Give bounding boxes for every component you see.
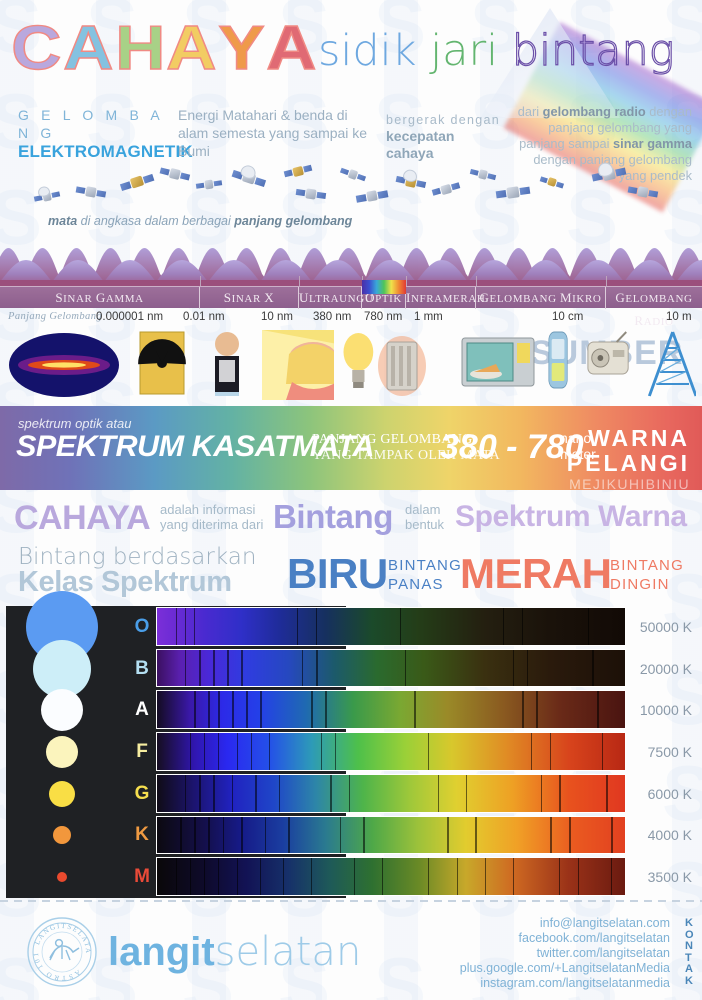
- absorption-line: [349, 775, 350, 812]
- satellite-icon: [230, 165, 267, 191]
- xray-child-icon: [203, 330, 251, 400]
- absorption-line: [218, 858, 219, 895]
- satellite-body: [507, 186, 520, 199]
- satellite-solar-panel: [378, 190, 389, 198]
- absorption-line: [302, 650, 303, 687]
- kontak-letter: K: [685, 918, 694, 930]
- absorption-line: [400, 608, 401, 645]
- spectrum-strip-M[interactable]: [156, 857, 626, 896]
- absorption-line: [213, 775, 214, 812]
- satellite-icon: [539, 173, 566, 192]
- banner-pelangi: PELANGI: [567, 451, 690, 476]
- absorption-line: [513, 858, 514, 895]
- satellite-solar-panel: [432, 188, 442, 196]
- wavelength-value: 1 mm: [414, 310, 443, 324]
- star-glyph-G: [49, 781, 75, 807]
- absorption-line: [513, 650, 514, 687]
- absorption-line: [536, 691, 538, 728]
- absorption-line: [208, 817, 210, 854]
- mid-adalah-l1: adalah informasi: [160, 502, 263, 517]
- seal-svg: LANGITSELATAN ASTRO 101: [26, 916, 98, 988]
- wavelength-value: 780 nm: [364, 310, 402, 324]
- absorption-line: [340, 817, 342, 854]
- absorption-line: [199, 650, 200, 687]
- brand-selatan: selatan: [215, 929, 362, 975]
- intro-bergerak-label: bergerak dengan: [386, 112, 501, 128]
- kontak-vertical-label: KONTAK: [685, 918, 694, 987]
- absorption-line: [180, 817, 182, 854]
- absorption-line: [269, 733, 270, 770]
- satellite-solar-panel: [180, 172, 190, 180]
- satellite-solar-panel: [519, 187, 530, 195]
- spectrum-strip-F[interactable]: [156, 732, 626, 771]
- mid-biru-sub1: BINTANG: [388, 556, 462, 575]
- absorption-line: [503, 608, 504, 645]
- absorption-line: [316, 650, 317, 687]
- satellite-icon: [495, 182, 531, 204]
- intro-col-speed: bergerak dengan kecepatan cahaya: [386, 112, 501, 162]
- satellite-body: [85, 186, 97, 198]
- satellite-solar-panel: [470, 169, 479, 176]
- satellite-icon: [395, 171, 427, 192]
- subtitle-word: jari: [430, 30, 498, 73]
- title-letter: A: [63, 18, 115, 80]
- absorption-line: [466, 775, 467, 812]
- optical-color-strip: [362, 280, 406, 294]
- spectral-class-chart: OBAFGKM 50000 K20000 K10000 K7500 K6000 …: [0, 606, 702, 898]
- spectrum-strip-B[interactable]: [156, 649, 626, 688]
- mid-adalah-l2: yang diterima dari: [160, 517, 263, 532]
- wavelength-value: 10 nm: [261, 310, 293, 324]
- absorption-line: [428, 858, 429, 895]
- absorption-line: [283, 858, 284, 895]
- banner-warna: WARNA: [567, 426, 690, 451]
- satellite-solar-panel: [76, 186, 86, 194]
- absorption-line: [185, 608, 186, 645]
- spectrum-strip-O[interactable]: [156, 607, 626, 646]
- absorption-line: [297, 608, 298, 645]
- wavelength-value: 380 nm: [313, 310, 351, 324]
- absorption-line: [232, 691, 234, 728]
- intro-col-energy: Energi Matahari & benda di alam semesta …: [178, 106, 378, 160]
- absorption-line: [288, 817, 290, 854]
- absorption-line: [190, 858, 191, 895]
- satellite-icon: [355, 185, 389, 206]
- absorption-line: [602, 733, 603, 770]
- em-band-ultraungu[interactable]: Ultraungu: [299, 287, 362, 309]
- mid-biru-sub2: PANAS: [388, 575, 462, 594]
- caption-panjang-gelombang: panjang gelombang: [234, 214, 352, 228]
- title-letter: A: [267, 18, 319, 80]
- mid-dalam: dalam bentuk: [405, 502, 444, 532]
- temperature-label-K: 4000 K: [648, 827, 692, 843]
- satellite-icon: [469, 165, 497, 184]
- satellite-icon: [283, 161, 314, 181]
- absorption-line: [475, 817, 477, 854]
- satellite-solar-panel: [52, 191, 61, 198]
- satellite-solar-panel: [303, 165, 313, 173]
- absorption-line: [531, 733, 532, 770]
- satellite-solar-panel: [628, 186, 638, 194]
- contact-list: info@langitselatan.comfacebook.com/langi…: [460, 916, 670, 991]
- title-letter: H: [115, 18, 167, 80]
- radiation-hazard-icon: [138, 330, 186, 400]
- satellite-icon: [75, 182, 107, 202]
- subtitle-word: bintang: [512, 30, 675, 73]
- absorption-line: [190, 733, 191, 770]
- satellite-solar-panel: [120, 181, 132, 191]
- absorption-line: [194, 817, 196, 854]
- satellite-solar-panel: [284, 170, 294, 178]
- em-band-gelombang-radio[interactable]: Gelombang radio: [606, 287, 702, 309]
- mid-merah-sub2: DINGIN: [610, 575, 684, 594]
- satellite-solar-panel: [540, 176, 548, 183]
- mid-bintang: Bintang: [273, 499, 393, 535]
- mid-merah-sub1: BINTANG: [610, 556, 684, 575]
- em-band-inframerah[interactable]: Inframerah: [406, 287, 476, 309]
- wavelength-label-row: Panjang Gelombang 0.000001 nm0.01 nm10 n…: [0, 310, 702, 326]
- lightbulb-icon: [340, 330, 382, 400]
- absorption-line: [606, 775, 607, 812]
- absorption-line: [550, 733, 551, 770]
- absorption-line: [251, 733, 252, 770]
- contact-item[interactable]: plus.google.com/+LangitselatanMedia: [460, 961, 670, 976]
- satellite-solar-panel: [296, 188, 306, 195]
- absorption-line: [241, 817, 243, 854]
- banner-rainbow-block: WARNA PELANGI MEJIKUHIBINIU: [567, 426, 690, 490]
- satellite-icon: [339, 164, 368, 185]
- title-letter: Y: [219, 18, 268, 80]
- absorption-line: [522, 691, 524, 728]
- banner-subtitle: spektrum optik atau: [18, 416, 131, 431]
- absorption-line: [541, 775, 542, 812]
- wavelength-value: 0.000001 nm: [96, 310, 163, 324]
- satellite-solar-panel: [416, 180, 426, 188]
- satellite-icon: [591, 163, 628, 187]
- infographic-poster: SSSSSSSSSSSSSSSSSSSSSSSSSSSSSSSSSSSSSSSS…: [0, 0, 702, 1000]
- em-band-sinar-gamma[interactable]: Sinar Gamma: [0, 287, 200, 309]
- absorption-line: [550, 817, 552, 854]
- absorption-line: [232, 775, 233, 812]
- intro-kecepatan-label: kecepatan cahaya: [386, 128, 501, 162]
- absorption-line: [569, 817, 571, 854]
- absorption-line: [405, 650, 406, 687]
- absorption-line: [279, 775, 280, 812]
- absorption-line: [223, 817, 225, 854]
- galaxy-gamma-map-icon: [8, 330, 120, 400]
- mid-cahaya: CAHAYA: [14, 500, 150, 536]
- contact-item[interactable]: instagram.com/langitselatanmedia: [460, 976, 670, 991]
- satellite-solar-panel: [496, 190, 507, 198]
- spectrum-strip-K[interactable]: [156, 816, 626, 855]
- uv-sunlight-woman-icon: [262, 330, 334, 400]
- absorption-line: [559, 775, 560, 812]
- absorption-line: [204, 858, 205, 895]
- brand-langit: langit: [108, 930, 215, 974]
- microwave-oven-icon: [460, 330, 536, 400]
- star-glyph-M: [57, 872, 67, 882]
- mid-adalah: adalah informasi yang diterima dari: [160, 502, 263, 532]
- satellite-solar-panel: [160, 167, 170, 175]
- poster-footer: LANGITSELATAN ASTRO 101 langitselatan in…: [0, 902, 702, 1000]
- absorption-line: [194, 691, 196, 728]
- intro-text-row: G E L O M B A N G ELEKTROMAGNETIK Energi…: [0, 102, 702, 166]
- mid-spektrum-warna: Spektrum Warna: [455, 499, 687, 535]
- absorption-line: [237, 733, 238, 770]
- em-band-sinar-x[interactable]: Sinar X: [200, 287, 299, 309]
- absorption-line: [325, 691, 327, 728]
- absorption-line: [265, 817, 267, 854]
- intro-gelombang-label: G E L O M B A N G: [18, 106, 178, 142]
- source-icon-row: [0, 326, 702, 406]
- satellite-icon: [195, 176, 223, 192]
- satellite-body: [366, 190, 379, 202]
- absorption-line: [330, 775, 331, 812]
- satellite-body: [637, 186, 649, 198]
- absorption-line: [255, 775, 256, 812]
- satellite-solar-panel: [615, 168, 626, 177]
- star-glyph-A: [41, 689, 83, 731]
- absorption-line: [218, 691, 220, 728]
- wavelength-value: 0.01 nm: [183, 310, 225, 324]
- mid-dalam-l2: bentuk: [405, 517, 444, 532]
- absorption-line: [227, 650, 228, 687]
- absorption-line: [218, 733, 219, 770]
- satellite-solar-panel: [254, 177, 266, 187]
- em-spectrum-band-bar: Sinar GammaSinar XUltraunguOptikInframer…: [0, 286, 702, 308]
- absorption-line: [185, 650, 186, 687]
- satellite-solar-panel: [356, 194, 367, 202]
- satellite-solar-panel: [96, 190, 106, 198]
- absorption-line: [311, 691, 313, 728]
- intro-elektromagnetik-label: ELEKTROMAGNETIK: [18, 142, 178, 162]
- absorption-line: [592, 650, 593, 687]
- absorption-line: [597, 691, 599, 728]
- mid-biru: BIRU: [287, 551, 388, 597]
- absorption-line: [208, 691, 210, 728]
- satellite-solar-panel: [648, 190, 658, 198]
- satellite-solar-panel: [556, 181, 564, 188]
- absorption-line: [611, 858, 612, 895]
- absorption-line: [438, 775, 439, 812]
- wavelength-value: 10 m: [666, 310, 692, 324]
- absorption-line: [485, 858, 486, 895]
- absorption-line: [457, 858, 458, 895]
- contact-item[interactable]: info@langitselatan.com: [460, 916, 670, 931]
- satellite-body: [305, 188, 316, 199]
- absorption-line: [213, 650, 214, 687]
- absorption-line: [559, 858, 560, 895]
- poster-header: CAHAYA sidik jari bintang: [0, 0, 702, 100]
- satellite-solar-panel: [451, 182, 461, 190]
- absorption-line: [176, 608, 177, 645]
- temperature-column: 50000 K20000 K10000 K7500 K6000 K4000 K3…: [630, 606, 702, 898]
- page-subtitle: sidik jari bintang: [318, 30, 675, 73]
- banner-mejikuhibiniu: MEJIKUHIBINIU: [567, 476, 690, 490]
- absorption-line: [241, 650, 242, 687]
- mid-bintang-panas: BINTANG PANAS: [388, 556, 462, 594]
- infrared-heater-icon: [378, 330, 426, 400]
- star-glyph-K: [53, 826, 71, 844]
- title-letter: A: [167, 18, 219, 80]
- absorption-line: [316, 608, 317, 645]
- absorption-line: [527, 650, 528, 687]
- absorption-line: [414, 691, 416, 728]
- satellite-icon: [295, 184, 327, 203]
- absorption-line: [382, 858, 383, 895]
- mid-dalam-l1: dalam: [405, 502, 444, 517]
- title-letter: C: [11, 18, 63, 80]
- absorption-line: [354, 858, 355, 895]
- absorption-line: [237, 858, 238, 895]
- absorption-line: [204, 733, 205, 770]
- wavelength-value: 10 cm: [552, 310, 583, 324]
- spectrum-strip-G[interactable]: [156, 774, 626, 813]
- kontak-letter: A: [685, 964, 694, 976]
- spectrum-strip-A[interactable]: [156, 690, 626, 729]
- absorption-line: [246, 691, 248, 728]
- star-size-column: [6, 606, 118, 898]
- satellite-icon: [627, 182, 659, 202]
- satellite-solar-panel: [487, 173, 496, 180]
- satellite-solar-panel: [214, 180, 222, 186]
- satellite-solar-panel: [316, 191, 326, 198]
- satellite-icon: [33, 187, 61, 205]
- star-glyph-F: [46, 736, 78, 768]
- absorption-line: [335, 733, 336, 770]
- absorption-line: [199, 775, 200, 812]
- wavelength-axis-label: Panjang Gelombang: [8, 310, 102, 324]
- satellite-solar-panel: [357, 174, 366, 182]
- radio-tower-icon: [640, 330, 696, 400]
- intro-col-electromagnetic: G E L O M B A N G ELEKTROMAGNETIK: [18, 106, 178, 162]
- temperature-label-A: 10000 K: [640, 702, 692, 718]
- satellite-icon: [431, 178, 462, 199]
- satellite-solar-panel: [142, 174, 154, 184]
- absorption-line: [311, 858, 312, 895]
- page-title: CAHAYA: [14, 18, 321, 80]
- langitselatan-seal-logo: LANGITSELATAN ASTRO 101: [26, 916, 98, 988]
- radio-receiver-icon: [586, 330, 632, 400]
- absorption-line: [428, 733, 429, 770]
- absorption-line: [185, 775, 186, 812]
- brand-wordmark: langitselatan: [108, 930, 361, 974]
- kontak-letter: K: [685, 976, 694, 988]
- temperature-label-F: 7500 K: [648, 744, 692, 760]
- spectrum-strip-column: [156, 606, 626, 898]
- mid-statement: CAHAYA adalah informasi yang diterima da…: [0, 494, 702, 606]
- absorption-line: [176, 858, 177, 895]
- temperature-label-O: 50000 K: [640, 619, 692, 635]
- absorption-line: [611, 817, 613, 854]
- visible-spectrum-banner: spektrum optik atau SPEKTRUM KASATMATA P…: [0, 406, 702, 490]
- absorption-line: [447, 817, 449, 854]
- absorption-line: [363, 817, 365, 854]
- satellite-icon: [159, 163, 192, 185]
- caption-mata: mata: [48, 214, 77, 228]
- subtitle-word: sidik: [318, 30, 417, 73]
- absorption-line: [321, 733, 322, 770]
- satellite-caption: mata di angkasa dalam berbagai panjang g…: [48, 214, 352, 228]
- absorption-line: [522, 608, 523, 645]
- mid-bintang-dingin: BINTANG DINGIN: [610, 556, 684, 594]
- satellite-body: [204, 180, 214, 190]
- satellite-icon: [118, 169, 155, 195]
- absorption-line: [260, 691, 262, 728]
- satellite-solar-panel: [196, 183, 204, 189]
- absorption-line: [194, 608, 195, 645]
- mid-merah: MERAH: [460, 551, 612, 597]
- absorption-line: [588, 608, 589, 645]
- kontak-letter: N: [685, 941, 694, 953]
- absorption-line: [578, 858, 579, 895]
- temperature-label-B: 20000 K: [640, 661, 692, 677]
- em-band-gelombang-mikro[interactable]: Gelombang mikro: [476, 287, 606, 309]
- mobile-phone-icon: [546, 330, 580, 400]
- contact-item[interactable]: facebook.com/langitselatan: [460, 931, 670, 946]
- temperature-label-M: 3500 K: [648, 869, 692, 885]
- contact-item[interactable]: twitter.com/langitselatan: [460, 946, 670, 961]
- temperature-label-G: 6000 K: [648, 786, 692, 802]
- absorption-line: [260, 858, 261, 895]
